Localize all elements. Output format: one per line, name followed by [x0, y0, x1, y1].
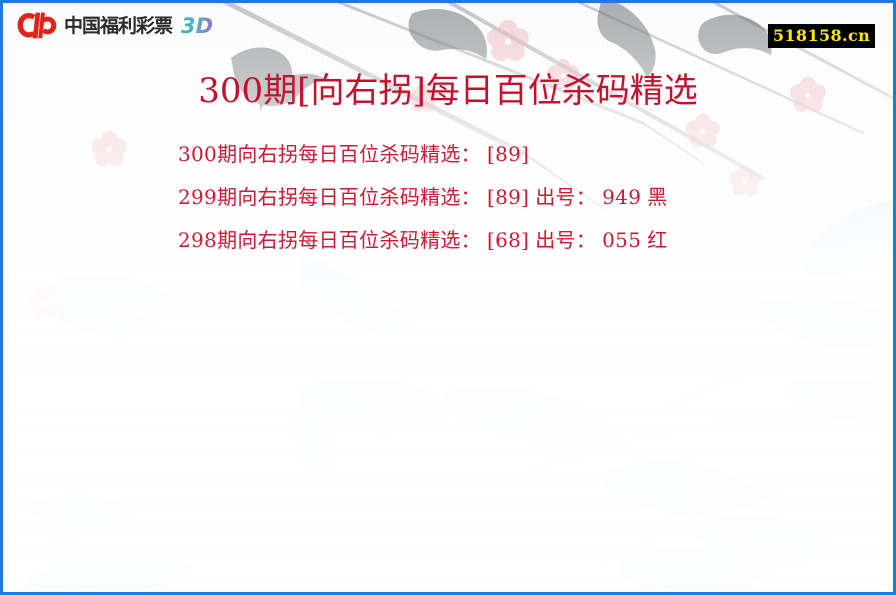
draw-label-1: 出号：: [535, 185, 596, 209]
brand-game-3d: 3D: [181, 16, 213, 37]
kill-code-2: [68]: [487, 228, 529, 252]
lottery-page: 中国福利彩票 3D 518158.cn 300期[向右拐]每日百位杀码精选 30…: [0, 0, 896, 595]
list-item: 298期向右拐每日百位杀码精选：[68]出号：055红: [178, 219, 674, 262]
kill-code-1: [89]: [487, 185, 529, 209]
site-watermark-badge: 518158.cn: [768, 24, 875, 48]
page-title: 300期[向右拐]每日百位杀码精选: [3, 63, 893, 112]
page-header: 中国福利彩票 3D: [3, 3, 893, 55]
issue-label-0: 300期向右拐每日百位杀码精选：: [178, 142, 481, 166]
issue-label-1: 299期向右拐每日百位杀码精选：: [178, 185, 481, 209]
list-item: 300期向右拐每日百位杀码精选：[89]: [178, 133, 674, 176]
issue-label-2: 298期向右拐每日百位杀码精选：: [178, 228, 481, 252]
draw-number-2: 055: [602, 228, 641, 252]
list-item: 299期向右拐每日百位杀码精选：[89]出号：949黑: [178, 176, 674, 219]
site-watermark-text: 518158.cn: [773, 28, 870, 44]
china-welfare-lottery-logo-icon: [17, 11, 57, 41]
draw-number-1: 949: [602, 185, 641, 209]
brand-name: 中国福利彩票: [64, 17, 172, 36]
result-2: 红: [647, 228, 667, 252]
draw-label-2: 出号：: [535, 228, 596, 252]
brand-logo[interactable]: 中国福利彩票 3D: [17, 11, 213, 41]
forecast-list: 300期向右拐每日百位杀码精选：[89] 299期向右拐每日百位杀码精选：[89…: [178, 133, 674, 262]
kill-code-0: [89]: [487, 142, 529, 166]
result-1: 黑: [647, 185, 667, 209]
